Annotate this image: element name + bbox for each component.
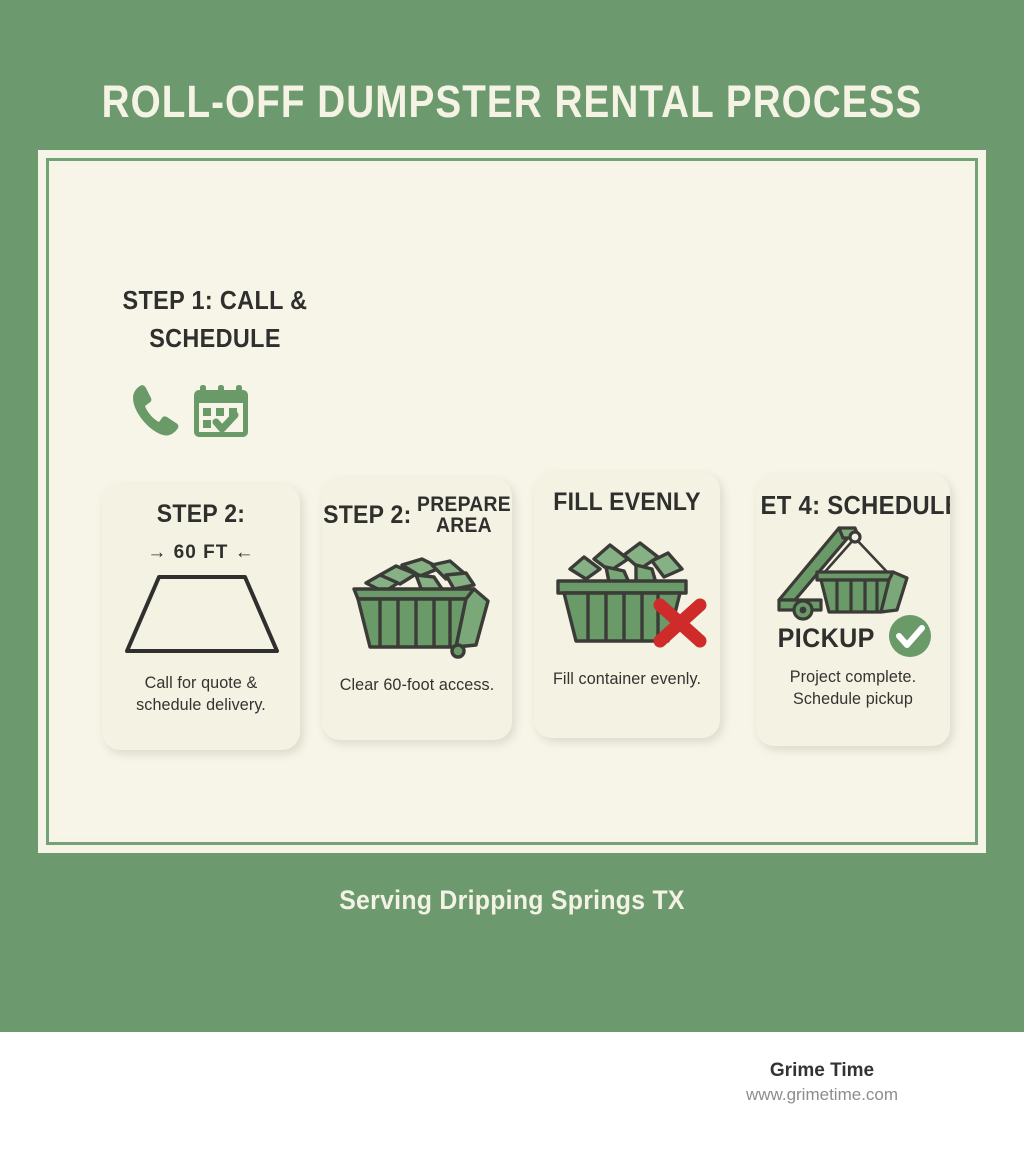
- brand-name: Grime Time: [672, 1058, 972, 1083]
- card-4-pickup-label: PICKUP: [777, 623, 874, 654]
- card-1-caption: Call for quote & schedule delivery.: [113, 672, 290, 716]
- card-4-caption: Project complete. Schedule pickup: [767, 666, 940, 710]
- page-title: ROLL-OFF DUMPSTER RENTAL PROCESS: [72, 76, 953, 128]
- card-2-title-main: STEP 2:: [323, 501, 411, 530]
- content-frame: STEP 1: CALL & SCHEDULE: [38, 150, 986, 853]
- step1-heading: STEP 1: CALL & SCHEDULE: [116, 281, 314, 357]
- step-card-2[interactable]: STEP 2: PREPARE AREA: [322, 478, 512, 740]
- content-panel: STEP 1: CALL & SCHEDULE: [54, 166, 970, 837]
- rolloff-truck-hoist-icon: [756, 520, 950, 624]
- card-1-dimension-label: → 60 FT ←: [102, 542, 300, 564]
- poster-background: ROLL-OFF DUMPSTER RENTAL PROCESS STEP 1:…: [0, 0, 1024, 1032]
- access-clearance-trapezoid-icon: [102, 568, 300, 660]
- loaded-dumpster-icon: [322, 552, 512, 662]
- overfilled-dumpster-icon: [534, 534, 720, 654]
- step-card-4[interactable]: ET 4: SCHEDULE: [756, 474, 950, 746]
- step-card-1[interactable]: STEP 2: → 60 FT ← Call for quote & sched…: [102, 484, 300, 750]
- infographic-canvas: ROLL-OFF DUMPSTER RENTAL PROCESS STEP 1:…: [0, 0, 1024, 1154]
- card-2-title-secondary: PREPARE AREA: [417, 494, 511, 536]
- card-4-title: ET 4: SCHEDULE: [760, 490, 950, 521]
- frame-inner-rule: STEP 1: CALL & SCHEDULE: [46, 158, 978, 845]
- calendar-check-icon: [192, 381, 250, 444]
- card-2-title: STEP 2: PREPARE AREA: [330, 494, 505, 536]
- brand-url[interactable]: www.grimetime.com: [672, 1083, 972, 1107]
- card-3-caption: Fill container evenly.: [544, 668, 709, 690]
- card-4-pickup-row: PICKUP: [756, 614, 950, 663]
- phone-icon: [130, 381, 182, 444]
- step-card-3[interactable]: FILL EVENLY: [534, 472, 720, 738]
- service-area-footer: Serving Dripping Springs TX: [41, 885, 983, 916]
- brand-block: Grime Time www.grimetime.com: [672, 1058, 972, 1107]
- card-3-title: FILL EVENLY: [541, 488, 712, 517]
- step1-icon-group: [130, 381, 250, 444]
- card-1-title: STEP 2:: [110, 500, 292, 529]
- green-check-icon: [888, 614, 932, 663]
- card-2-caption: Clear 60-foot access.: [332, 674, 501, 696]
